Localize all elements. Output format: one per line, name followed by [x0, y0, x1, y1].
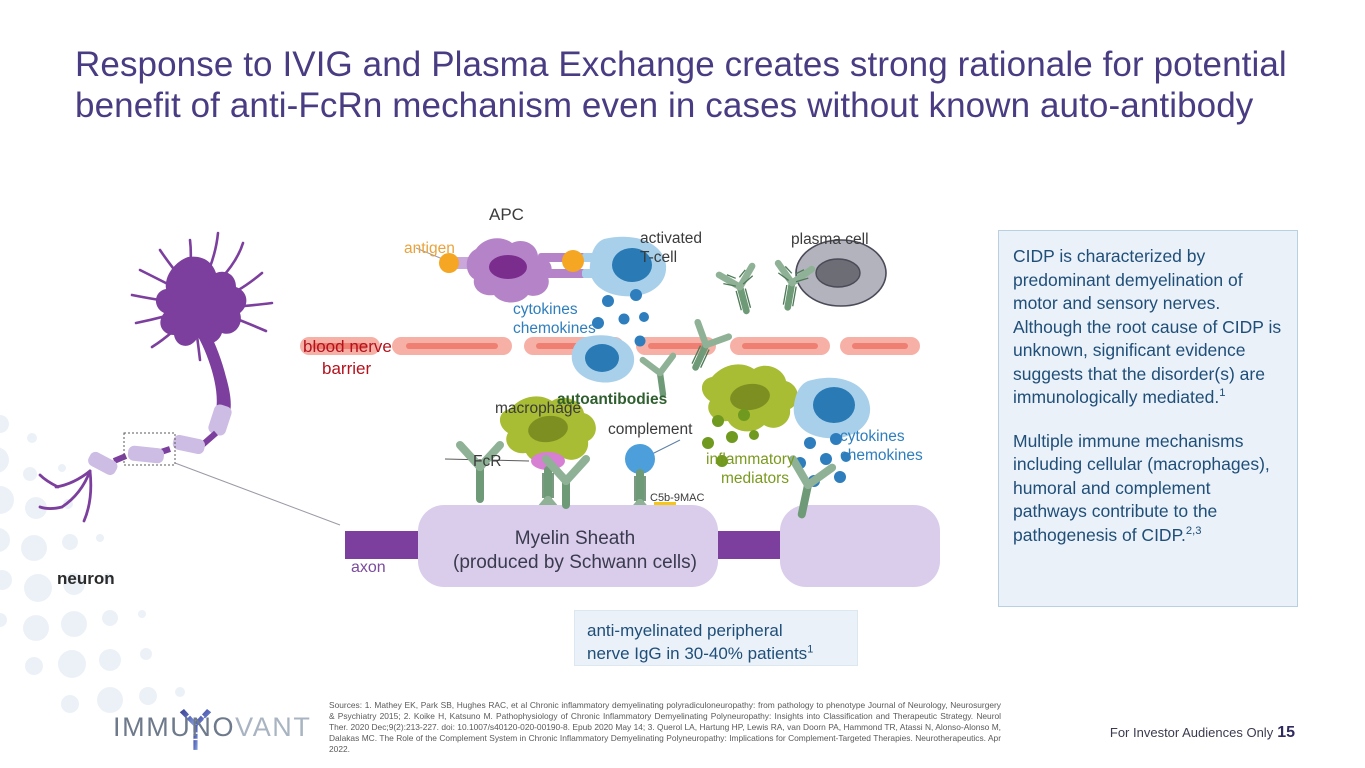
- label-axon: axon: [351, 559, 386, 577]
- label-chemokines-right: chemokines: [840, 447, 923, 465]
- label-complement: complement: [608, 421, 692, 439]
- label-neuron: neuron: [57, 570, 115, 588]
- info-paragraph-2: Multiple immune mechanisms including cel…: [1013, 430, 1283, 548]
- label-plasma-cell: plasma cell: [791, 231, 869, 249]
- cidp-info-box: CIDP is characterized by predominant dem…: [998, 230, 1298, 607]
- label-c5b9mac: C5b-9MAC: [650, 489, 704, 507]
- label-cytokines-top: cytokines: [513, 301, 578, 319]
- label-activated-tcell-line2: T-cell: [640, 249, 677, 267]
- label-macrophage: macrophage: [495, 400, 581, 418]
- label-antigen: antigen: [404, 240, 455, 258]
- info-footnote-ref-2: 2,3: [1186, 525, 1202, 537]
- label-blood-nerve-barrier-line2: barrier: [322, 358, 371, 379]
- info-paragraph-1: CIDP is characterized by predominant dem…: [1013, 245, 1283, 410]
- footer-note: For Investor Audiences Only15: [1110, 724, 1295, 742]
- zoom-leader-line: [175, 463, 340, 525]
- label-fcr: FcR: [473, 453, 501, 471]
- callout-footnote-ref: 1: [807, 643, 813, 655]
- callout-line-1: anti-myelinated peripheral: [587, 619, 845, 642]
- label-activated-tcell-line1: activated: [640, 230, 702, 248]
- label-blood-nerve-barrier-line1: blood nerve: [303, 336, 392, 357]
- slide: Response to IVIG and Plasma Exchange cre…: [0, 0, 1365, 768]
- label-inflammatory-line1: inflammatory: [706, 451, 795, 469]
- footer-label: For Investor Audiences Only: [1110, 725, 1273, 740]
- info-footnote-ref-1: 1: [1219, 387, 1225, 399]
- neuron-graphic: [40, 233, 340, 525]
- page-title: Response to IVIG and Plasma Exchange cre…: [75, 44, 1295, 126]
- brand-wordmark: IMMUNOVANT: [113, 712, 312, 743]
- sources-text: Sources: 1. Mathey EK, Park SB, Hughes R…: [329, 700, 1001, 755]
- label-myelin-sheath-line1: Myelin Sheath: [430, 527, 720, 551]
- label-myelin-sheath-line2: (produced by Schwann cells): [430, 551, 720, 575]
- label-cytokines-right: cytokines: [840, 428, 905, 446]
- callout-line-2: nerve IgG in 30-40% patients1: [587, 642, 845, 665]
- migrating-tcell: [572, 335, 634, 382]
- label-apc: APC: [489, 206, 524, 224]
- page-number: 15: [1277, 724, 1295, 741]
- anti-myelin-callout: anti-myelinated peripheral nerve IgG in …: [574, 610, 858, 666]
- label-inflammatory-line2: mediators: [721, 470, 789, 488]
- antigen-dot-2: [562, 250, 584, 272]
- label-chemokines-top: chemokines: [513, 320, 596, 338]
